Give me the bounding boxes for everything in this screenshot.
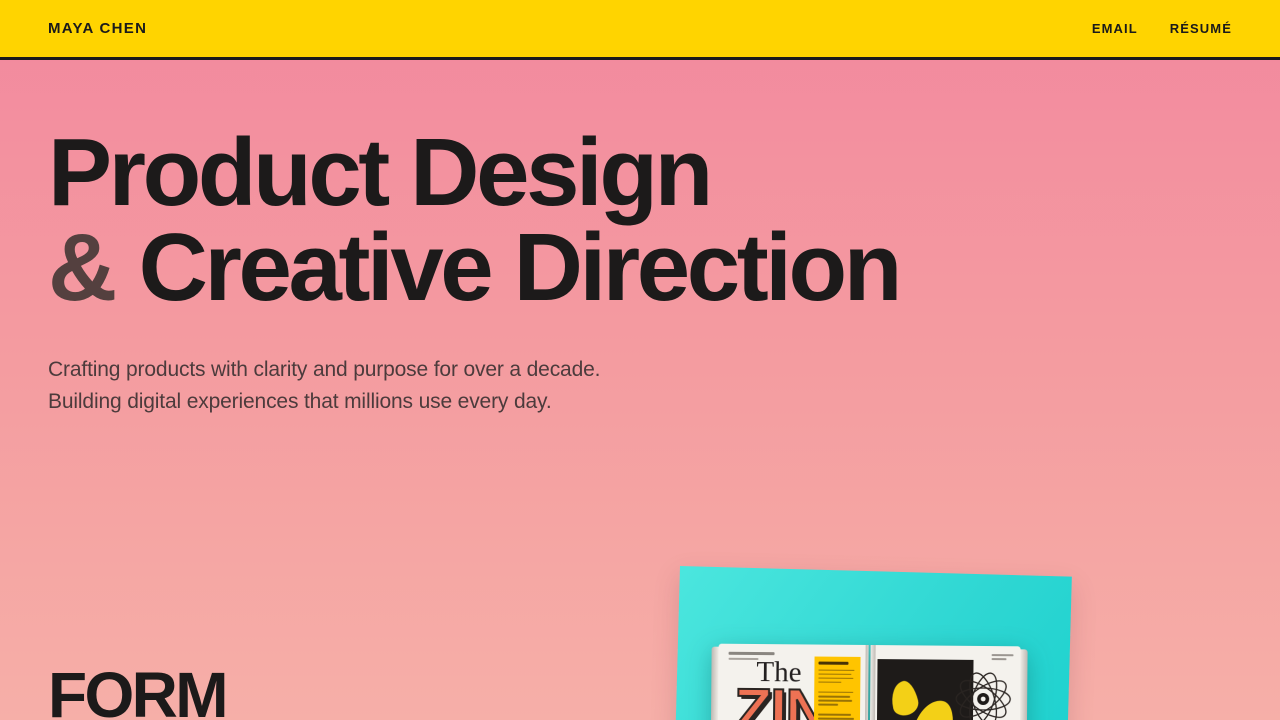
zine-header-rule bbox=[729, 652, 775, 655]
zine-magazine-image[interactable]: The ZIN bbox=[717, 644, 1020, 720]
main-nav: EMAIL RÉSUMÉ bbox=[1092, 21, 1232, 36]
zine-sidebar-text-lines bbox=[818, 662, 857, 720]
zine-page-edge-right bbox=[1019, 649, 1027, 720]
zine-folio-marks bbox=[992, 654, 1014, 662]
hero-title-line-1: Product Design bbox=[48, 125, 1232, 220]
ampersand-glyph: & bbox=[48, 214, 115, 321]
zine-page-left: The ZIN bbox=[717, 644, 868, 720]
atom-diagram-icon bbox=[952, 668, 1015, 720]
hero-title-line-2: & Creative Direction bbox=[48, 220, 1232, 315]
site-header: MAYA CHEN EMAIL RÉSUMÉ bbox=[0, 0, 1280, 60]
zine-yellow-sidebar bbox=[813, 657, 860, 720]
hero-subtitle-line-2: Building digital experiences that millio… bbox=[48, 386, 1232, 418]
hero-subtitle: Crafting products with clarity and purpo… bbox=[48, 354, 1232, 418]
section-heading-form: FORM bbox=[48, 668, 226, 720]
page-title: Product Design & Creative Direction bbox=[48, 125, 1232, 315]
page-background: MAYA CHEN EMAIL RÉSUMÉ Product Design & … bbox=[0, 0, 1280, 720]
zine-header-rule-2 bbox=[729, 658, 759, 660]
hero-title-line-2-text: Creative Direction bbox=[139, 214, 899, 321]
brand-logo[interactable]: MAYA CHEN bbox=[48, 20, 147, 37]
nav-link-resume[interactable]: RÉSUMÉ bbox=[1170, 21, 1232, 36]
hero-section: Product Design & Creative Direction Craf… bbox=[0, 63, 1280, 418]
zine-spine bbox=[864, 645, 875, 720]
zine-page-right bbox=[869, 645, 1020, 720]
nav-link-email[interactable]: EMAIL bbox=[1092, 21, 1138, 36]
hero-subtitle-line-1: Crafting products with clarity and purpo… bbox=[48, 354, 1232, 386]
